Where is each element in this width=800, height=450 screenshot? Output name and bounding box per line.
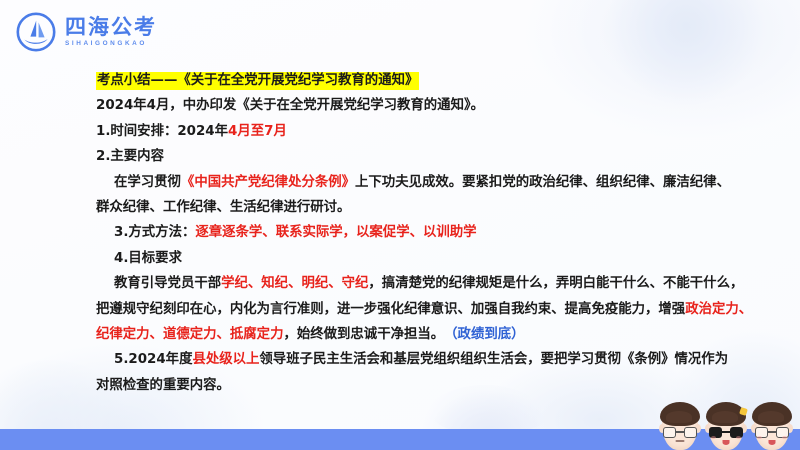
text-line-item-3-method: 3.方式方法：逐章逐条学、联系实际学，以案促学、以训助学 (96, 220, 756, 245)
segment-text: 在学习贯彻 (114, 175, 181, 190)
segment-text: 3.方式方法： (114, 225, 195, 240)
mascot-cheek-right (736, 436, 741, 439)
brand-wordmark: 四海公考 SIHAIGONGKAO (65, 17, 157, 47)
segment-text-red: 政治定力、 (685, 302, 752, 317)
text-line-item-4-heading: 4.目标要求 (96, 246, 756, 271)
segment-text: 把遵规守纪刻印在心，内化为言行准则，进一步强化纪律意识、加强自我约束、提高免疫能… (96, 302, 685, 317)
segment-text: 领导班子民主生活会和基层党组织组织生活会，要把学习贯彻《条例》情况作为 (259, 352, 728, 367)
segment-text-red: 学纪、知纪、明纪、守纪 (221, 276, 368, 291)
segment-text: 1.时间安排：2024年 (96, 124, 228, 139)
mascot-group (658, 400, 794, 450)
text-line-item-4-body-2: 把遵规守纪刻印在心，内化为言行准则，进一步强化纪律意识、加强自我约束、提高免疫能… (96, 297, 756, 322)
summary-title: 考点小结——《关于在全党开展党纪学习教育的通知》 (96, 68, 756, 93)
summary-title-text: 考点小结——《关于在全党开展党纪学习教育的通知》 (96, 72, 419, 90)
segment-text-red: 逐章逐条学、联系实际学，以案促学、以训助学 (195, 225, 476, 240)
text-line-item-5-line-1: 5.2024年度县处级以上领导班子民主生活会和基层党组织组织生活会，要把学习贯彻… (96, 347, 756, 372)
segment-text: 上下功夫见成效。要紧扣党的政治纪律、组织纪律、廉洁纪律、 (355, 175, 730, 190)
text-line-item-2-heading: 2.主要内容 (96, 144, 756, 169)
segment-text-red: 纪律定力、道德定力、抵腐定力 (96, 327, 283, 342)
slide-content: 考点小结——《关于在全党开展党纪学习教育的通知》 2024年4月，中办印发《关于… (96, 68, 756, 398)
text-line-intro: 2024年4月，中办印发《关于在全党开展党纪学习教育的通知》。 (96, 93, 756, 118)
text-line-item-2-body-2: 群众纪律、工作纪律、生活纪律进行研讨。 (96, 195, 756, 220)
text-line-item-2-body-1: 在学习贯彻《中国共产党纪律处分条例》上下功夫见成效。要紧扣党的政治纪律、组织纪律… (96, 170, 756, 195)
mascot-cheek-left (757, 436, 762, 439)
segment-text: 对照检查的重要内容。 (96, 378, 230, 393)
text-line-item-5-line-2: 对照检查的重要内容。 (96, 373, 756, 398)
brand-logo: 四海公考 SIHAIGONGKAO (16, 12, 157, 52)
mascot-right (750, 400, 794, 450)
segment-text: 群众纪律、工作纪律、生活纪律进行研讨。 (96, 200, 350, 215)
segment-text-red: 县处级以上 (192, 352, 259, 367)
segment-text: 教育引导党员干部 (114, 276, 221, 291)
glasses-icon (663, 427, 697, 438)
segment-text-blue: （政绩到底） (437, 327, 524, 342)
segment-text: ，搞清楚党的纪律规矩是什么，弄明白能干什么、不能干什么， (368, 276, 743, 291)
mascot-mouth (723, 440, 730, 445)
text-line-item-4-body-1: 教育引导党员干部学纪、知纪、明纪、守纪，搞清楚党的纪律规矩是什么，弄明白能干什么… (96, 271, 756, 296)
segment-text: 4.目标要求 (114, 251, 182, 266)
sailboat-circle-icon (16, 12, 56, 52)
segment-text: 2024年4月，中办印发《关于在全党开展党纪学习教育的通知》。 (96, 98, 484, 113)
mascot-cheek-left (711, 436, 716, 439)
mascot-cheek-right (782, 436, 787, 439)
brand-name-en: SIHAIGONGKAO (65, 41, 157, 47)
slide-canvas: 四海公考 SIHAIGONGKAO 考点小结——《关于在全党开展党纪学习教育的通… (0, 0, 800, 450)
mascot-mouth (769, 440, 776, 445)
brand-name-cn: 四海公考 (65, 17, 157, 38)
mascot-left (658, 400, 702, 450)
segment-text-red: 4月至7月 (228, 124, 287, 139)
mascot-hair (752, 402, 792, 426)
segment-text-red: 《中国共产党纪律处分条例》 (181, 175, 355, 190)
mascot-center (704, 400, 748, 450)
segment-text: 2.主要内容 (96, 149, 164, 164)
segment-text: 5.2024年度 (114, 352, 192, 367)
text-line-item-4-body-3: 纪律定力、道德定力、抵腐定力，始终做到忠诚干净担当。 （政绩到底） (96, 322, 756, 347)
mascot-hair (660, 402, 700, 426)
mascot-mouth (676, 440, 685, 442)
text-line-item-1-time: 1.时间安排：2024年4月至7月 (96, 119, 756, 144)
segment-text: ，始终做到忠诚干净担当。 (283, 327, 437, 342)
